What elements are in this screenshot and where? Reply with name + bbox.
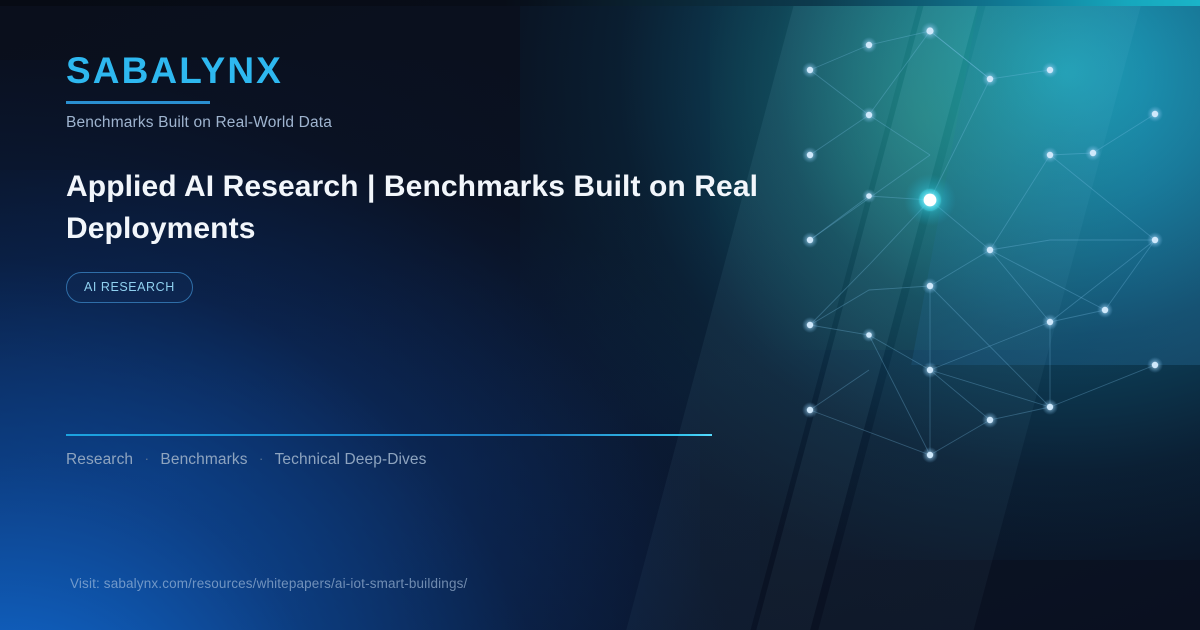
status-badge: AI RESEARCH [66, 272, 193, 303]
category-item-benchmarks: Benchmarks [160, 451, 247, 468]
visit-url: Visit: sabalynx.com/resources/whitepaper… [70, 576, 467, 591]
network-hub-node [904, 174, 956, 226]
content-column: SABALYNX Benchmarks Built on Real-World … [0, 0, 780, 630]
meta-separator-2: · [252, 451, 270, 466]
brand-tagline: Benchmarks Built on Real-World Data [66, 114, 780, 132]
category-item-deep-dives: Technical Deep-Dives [275, 451, 427, 468]
brand-name: SABALYNX [66, 52, 780, 89]
category-item-research: Research [66, 451, 133, 468]
meta-separator-1: · [138, 451, 156, 466]
page-title: Applied AI Research | Benchmarks Built o… [66, 166, 766, 250]
section-divider [66, 434, 712, 436]
brand-underline [66, 101, 210, 104]
category-list: Research · Benchmarks · Technical Deep-D… [66, 451, 426, 469]
network-edges [810, 31, 1155, 455]
network-nodes [802, 22, 1163, 463]
